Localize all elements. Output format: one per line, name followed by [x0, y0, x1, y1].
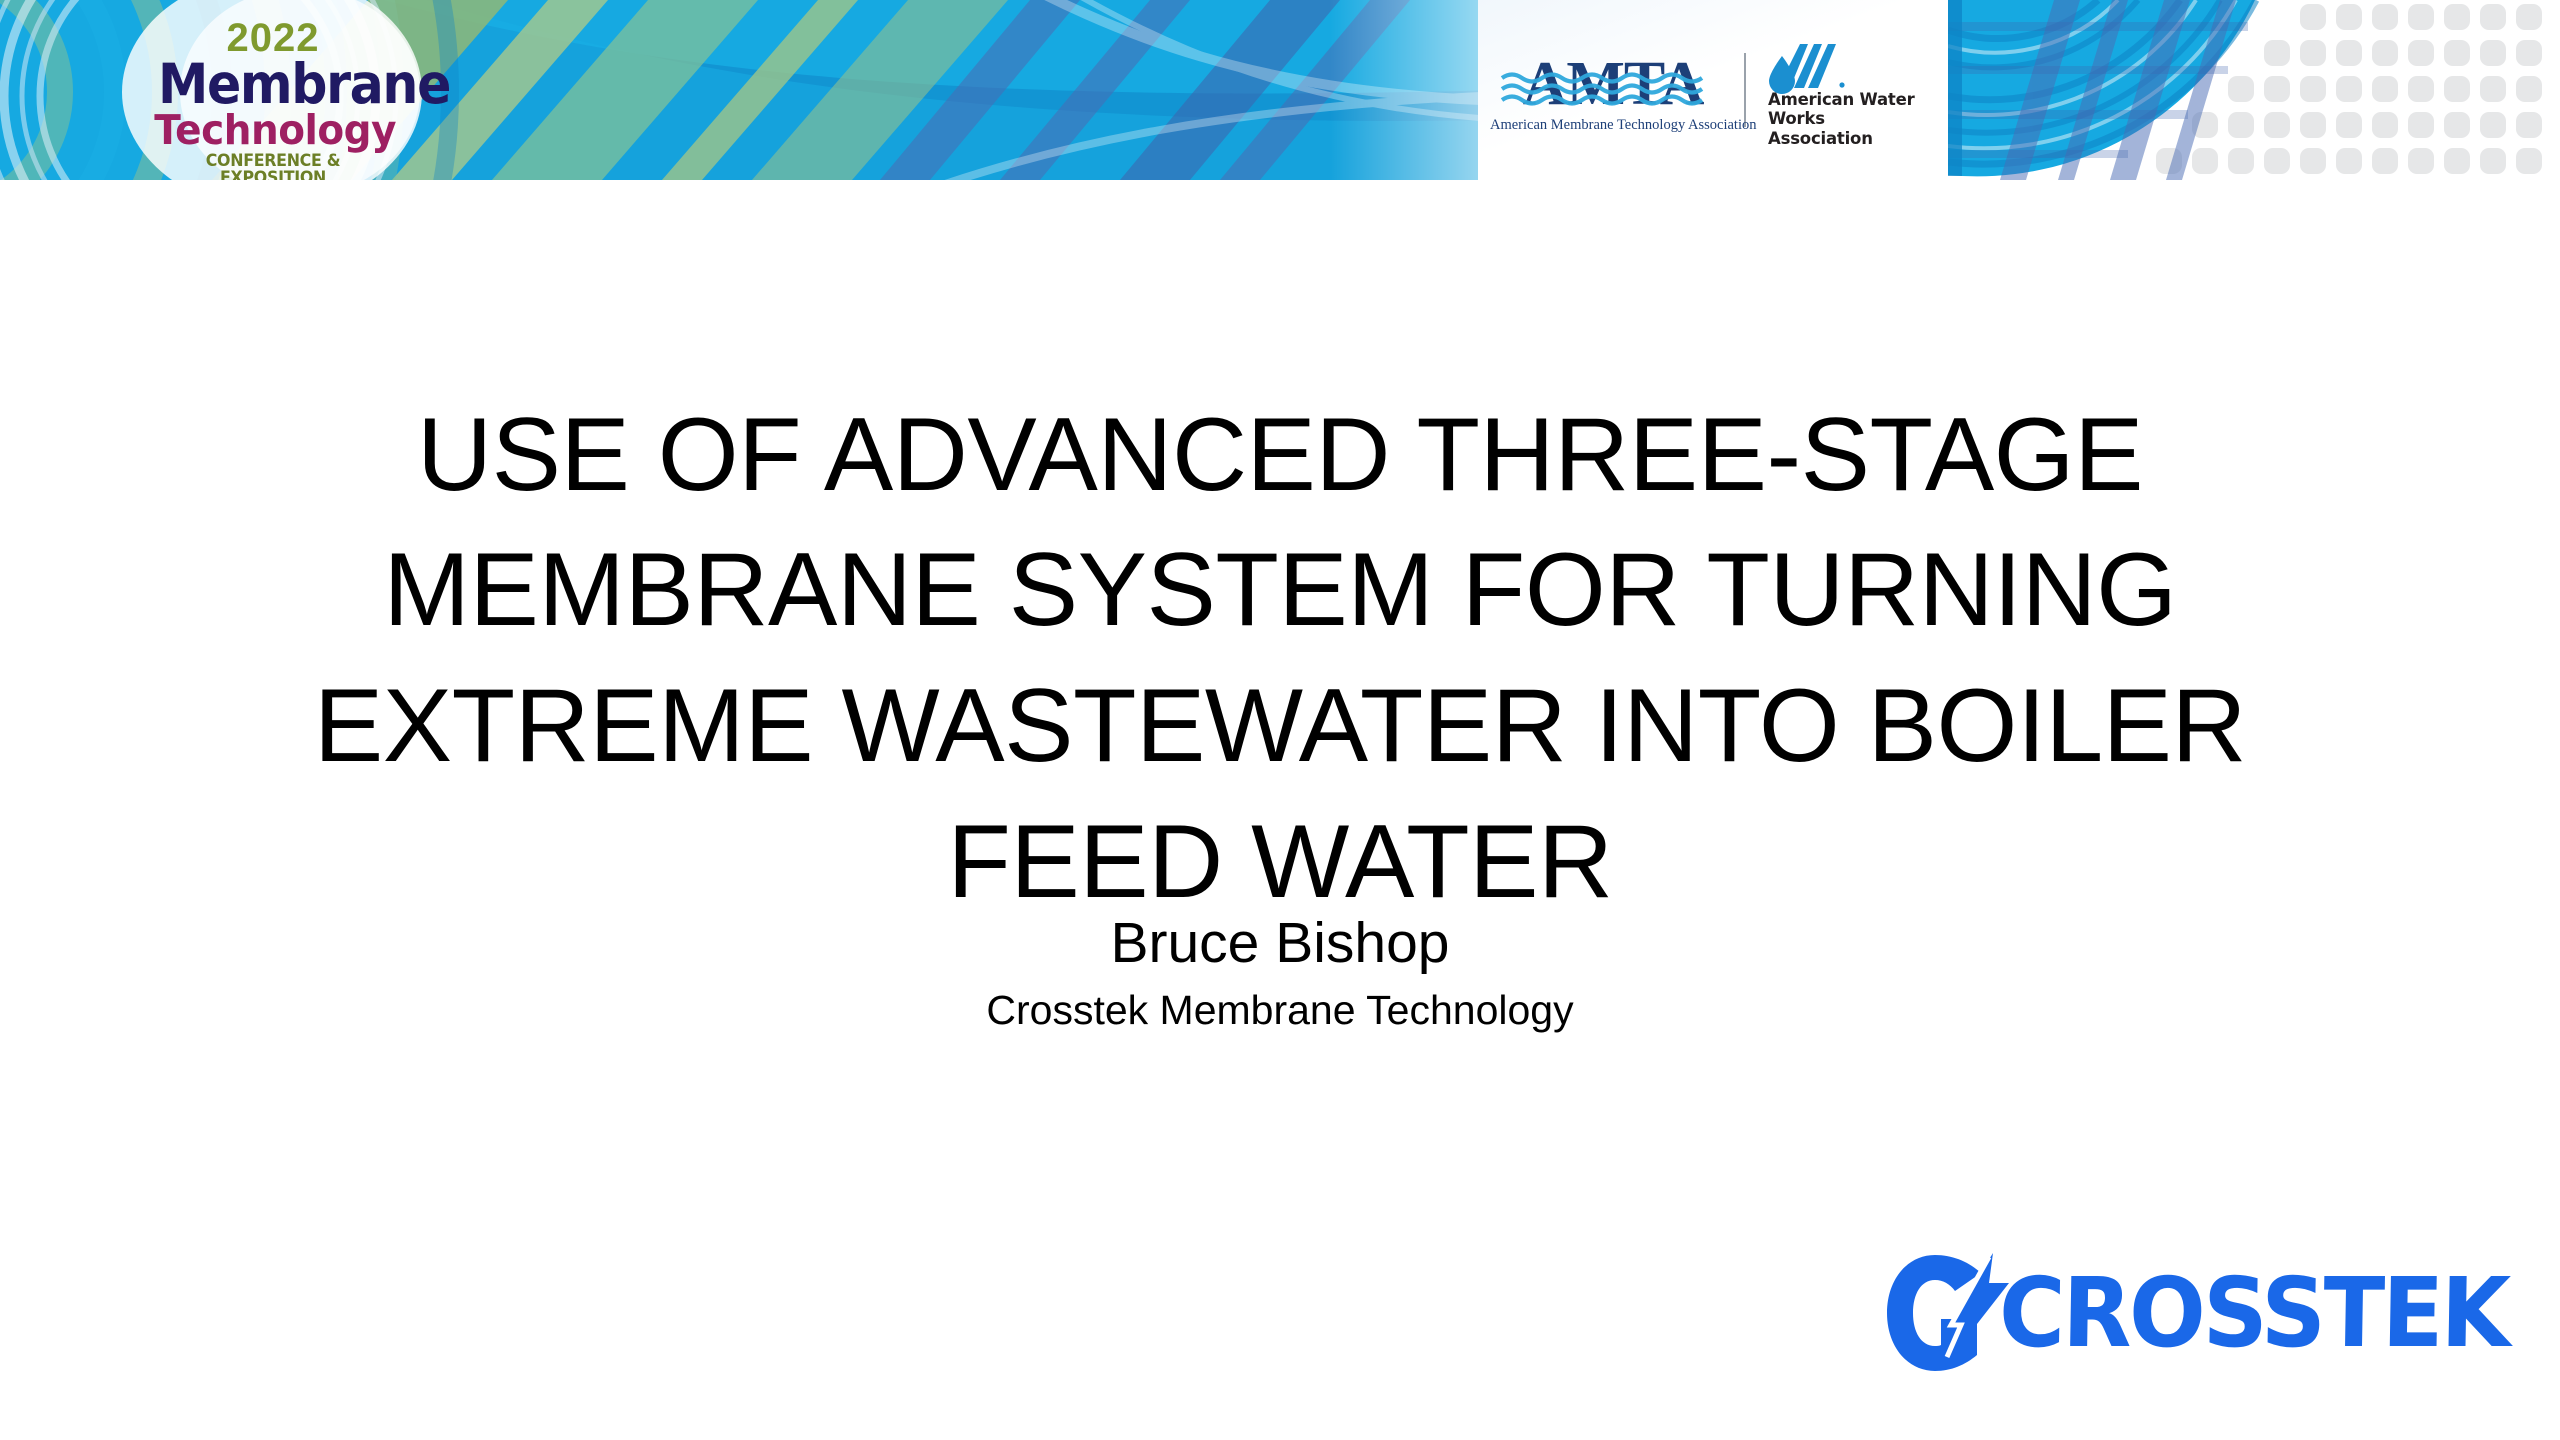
awwa-name-line1: American Water Works [1768, 90, 1928, 129]
awwa-full-name: American Water Works Association [1768, 90, 1928, 148]
association-logos: AMTA American Membrane Technology Associ… [1478, 0, 1948, 180]
header-banner: 2022 Membrane Technology CONFERENCE & EX… [0, 0, 2560, 180]
awwa-logo: American Water Works Association [1766, 42, 1928, 138]
banner-right-arcs [1948, 0, 2560, 180]
crosstek-wordmark: CROSSTEK [1998, 1265, 2508, 1361]
conference-logo-technology: Technology [154, 110, 392, 151]
title-line-2: MEMBRANE SYSTEM FOR TURNING [0, 523, 2560, 659]
conference-logo-subtitle: CONFERENCE & EXPOSITION [153, 153, 393, 180]
crosstek-c-lightning-icon [1885, 1253, 2011, 1373]
amta-full-name: American Membrane Technology Association [1490, 117, 1736, 134]
slide-title: USE OF ADVANCED THREE-STAGE MEMBRANE SYS… [0, 388, 2560, 931]
conference-logo: 2022 Membrane Technology CONFERENCE & EX… [148, 18, 398, 170]
author-affiliation: Crosstek Membrane Technology [0, 990, 2560, 1031]
conference-logo-membrane: Membrane [158, 57, 388, 112]
title-line-3: EXTREME WASTEWATER INTO BOILER [0, 659, 2560, 795]
title-line-1: USE OF ADVANCED THREE-STAGE [0, 388, 2560, 524]
author-name: Bruce Bishop [0, 915, 2560, 972]
crosstek-logo: CROSSTEK [1885, 1248, 2540, 1378]
logo-divider [1744, 53, 1746, 127]
amta-logo: AMTA American Membrane Technology Associ… [1490, 42, 1736, 138]
awwa-name-line2: Association [1768, 129, 1928, 148]
